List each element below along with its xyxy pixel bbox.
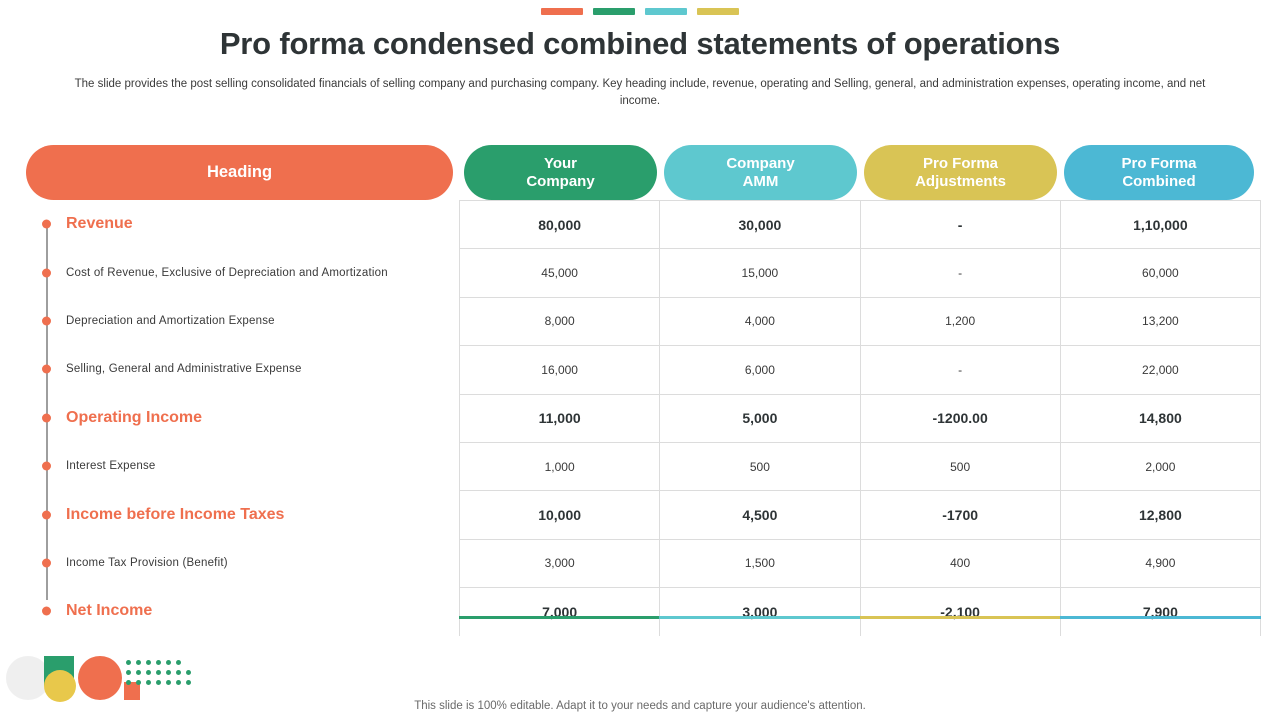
deco-dot-grid — [126, 658, 198, 688]
table-cell: 1,000 — [460, 442, 660, 490]
table-cell: 15,000 — [660, 249, 860, 297]
header-pill-heading-label: Heading — [207, 163, 272, 182]
deco-circle-yellow — [44, 670, 76, 702]
table-cell: 1,10,000 — [1060, 201, 1260, 249]
tick-teal — [645, 8, 687, 15]
bullet-dot-icon — [42, 316, 51, 325]
table-cell: 500 — [860, 442, 1060, 490]
table-cell: 4,500 — [660, 491, 860, 539]
deco-circle-orange — [78, 656, 122, 700]
table-row: 80,00030,000-1,10,000 — [460, 201, 1261, 249]
row-label-text: Operating Income — [66, 409, 202, 427]
tick-green — [593, 8, 635, 15]
table-row: 11,0005,000-1200.0014,800 — [460, 394, 1261, 442]
table-row: 45,00015,000-60,000 — [460, 249, 1261, 297]
bullet-dot-icon — [42, 607, 51, 616]
deco-dot — [176, 680, 181, 685]
deco-dot — [156, 660, 161, 665]
header-pill-pro-forma-combined: Pro FormaCombined — [1064, 145, 1254, 200]
table-cell: 13,200 — [1060, 297, 1260, 345]
table-cell: 1,200 — [860, 297, 1060, 345]
slide-root: Pro forma condensed combined statements … — [0, 0, 1280, 720]
column-underlines — [459, 616, 1261, 619]
table-cell: - — [860, 249, 1060, 297]
header-pill-pro-forma-adjustments-label: Pro FormaAdjustments — [915, 155, 1006, 190]
deco-dot — [136, 670, 141, 675]
page-subtitle: The slide provides the post selling cons… — [60, 76, 1220, 109]
row-label: Revenue — [28, 200, 448, 248]
tick-yellow — [697, 8, 739, 15]
row-label: Income Tax Provision (Benefit) — [28, 539, 448, 587]
table-cell: 8,000 — [460, 297, 660, 345]
table-cell: 4,000 — [660, 297, 860, 345]
row-label-column: RevenueCost of Revenue, Exclusive of Dep… — [28, 200, 448, 636]
bullet-dot-icon — [42, 558, 51, 567]
table-cell: 11,000 — [460, 394, 660, 442]
row-label: Interest Expense — [28, 442, 448, 490]
table-cell: 4,900 — [1060, 539, 1260, 587]
table-cell: 500 — [660, 442, 860, 490]
table-cell: 6,000 — [660, 346, 860, 394]
table-row: 1,0005005002,000 — [460, 442, 1261, 490]
bullet-dot-icon — [42, 462, 51, 471]
row-label: Selling, General and Administrative Expe… — [28, 345, 448, 393]
tick-orange — [541, 8, 583, 15]
deco-dot — [126, 670, 131, 675]
row-label: Net Income — [28, 587, 448, 635]
page-title: Pro forma condensed combined statements … — [0, 26, 1280, 62]
underline-your-company — [459, 616, 659, 619]
table-cell: 80,000 — [460, 201, 660, 249]
underline-pro-forma-combined — [1060, 616, 1261, 619]
deco-dot — [146, 670, 151, 675]
table-row: 10,0004,500-170012,800 — [460, 491, 1261, 539]
header-pill-your-company-label: YourCompany — [526, 155, 594, 190]
footer-note: This slide is 100% editable. Adapt it to… — [0, 700, 1280, 712]
row-label-text: Cost of Revenue, Exclusive of Depreciati… — [66, 267, 388, 279]
table-cell: 5,000 — [660, 394, 860, 442]
bullet-dot-icon — [42, 413, 51, 422]
table-cell: 1,500 — [660, 539, 860, 587]
row-label-text: Revenue — [66, 215, 133, 233]
table-cell: 3,000 — [660, 588, 860, 636]
row-label-text: Interest Expense — [66, 460, 156, 472]
row-label-text: Selling, General and Administrative Expe… — [66, 363, 302, 375]
financials-table: 80,00030,000-1,10,00045,00015,000-60,000… — [459, 200, 1261, 636]
deco-dot — [146, 660, 151, 665]
row-label-text: Net Income — [66, 602, 152, 620]
table-cell: -2,100 — [860, 588, 1060, 636]
deco-dot — [126, 680, 131, 685]
table-row: 7,0003,000-2,1007,900 — [460, 588, 1261, 636]
table-cell: - — [860, 201, 1060, 249]
header-pill-heading: Heading — [26, 145, 453, 200]
table-cell: 3,000 — [460, 539, 660, 587]
table-cell: 16,000 — [460, 346, 660, 394]
table-cell: 60,000 — [1060, 249, 1260, 297]
row-label-text: Income before Income Taxes — [66, 506, 284, 524]
deco-dot — [186, 680, 191, 685]
deco-dot — [186, 670, 191, 675]
deco-dot — [156, 670, 161, 675]
row-label: Operating Income — [28, 394, 448, 442]
table-cell: 7,900 — [1060, 588, 1260, 636]
table-row: 8,0004,0001,20013,200 — [460, 297, 1261, 345]
table-row: 3,0001,5004004,900 — [460, 539, 1261, 587]
table-cell: 14,800 — [1060, 394, 1260, 442]
table-row: 16,0006,000-22,000 — [460, 346, 1261, 394]
header-pill-pro-forma-combined-label: Pro FormaCombined — [1121, 155, 1196, 190]
table-cell: 12,800 — [1060, 491, 1260, 539]
table-cell: 7,000 — [460, 588, 660, 636]
row-label: Cost of Revenue, Exclusive of Depreciati… — [28, 248, 448, 296]
row-label-text: Depreciation and Amortization Expense — [66, 315, 275, 327]
row-label: Income before Income Taxes — [28, 490, 448, 538]
header-pill-company-amm: CompanyAMM — [664, 145, 857, 200]
deco-dot — [166, 660, 171, 665]
deco-dot — [136, 660, 141, 665]
table-cell: 2,000 — [1060, 442, 1260, 490]
underline-pro-forma-adjustments — [860, 616, 1060, 619]
row-label: Depreciation and Amortization Expense — [28, 297, 448, 345]
bullet-dot-icon — [42, 220, 51, 229]
deco-dot — [126, 660, 131, 665]
table-cell: 30,000 — [660, 201, 860, 249]
bullet-dot-icon — [42, 365, 51, 374]
deco-dot — [166, 670, 171, 675]
table-cell: -1700 — [860, 491, 1060, 539]
table-cell: 10,000 — [460, 491, 660, 539]
table-cell: -1200.00 — [860, 394, 1060, 442]
deco-dot — [166, 680, 171, 685]
header-pill-your-company: YourCompany — [464, 145, 657, 200]
row-label-text: Income Tax Provision (Benefit) — [66, 557, 228, 569]
deco-dot — [176, 670, 181, 675]
deco-dot — [176, 660, 181, 665]
bullet-dot-icon — [42, 268, 51, 277]
underline-company-amm — [659, 616, 860, 619]
deco-dot — [156, 680, 161, 685]
bullet-dot-icon — [42, 510, 51, 519]
table-cell: 45,000 — [460, 249, 660, 297]
table-cell: 22,000 — [1060, 346, 1260, 394]
deco-dot — [136, 680, 141, 685]
column-header-pills: Heading YourCompany CompanyAMM Pro Forma… — [26, 145, 1254, 201]
header-pill-pro-forma-adjustments: Pro FormaAdjustments — [864, 145, 1057, 200]
table-cell: 400 — [860, 539, 1060, 587]
top-color-ticks — [541, 8, 739, 15]
deco-dot — [146, 680, 151, 685]
table-cell: - — [860, 346, 1060, 394]
header-pill-company-amm-label: CompanyAMM — [726, 155, 794, 190]
